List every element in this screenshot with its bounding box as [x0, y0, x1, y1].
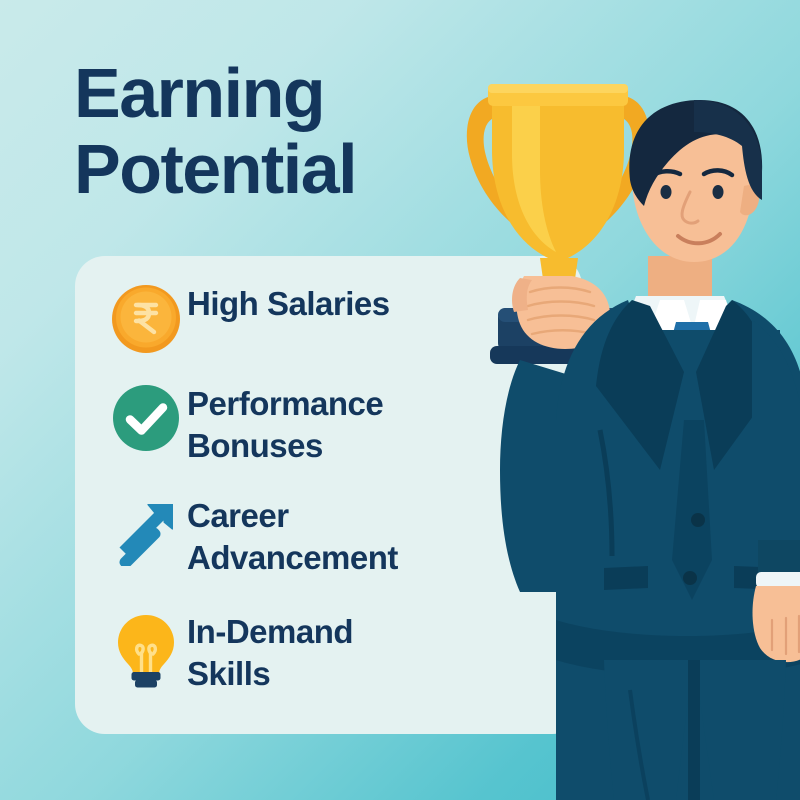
list-item[interactable]: Career Advancement: [105, 492, 565, 579]
list-item[interactable]: High Salaries: [105, 280, 565, 356]
check-circle-icon: [105, 380, 187, 454]
list-item-label: Career Advancement: [187, 492, 398, 579]
infographic-canvas: Earning Potential: [0, 0, 800, 800]
rupee-coin-icon: [105, 280, 187, 356]
list-item-label: High Salaries: [187, 280, 390, 325]
list-item-label: Performance Bonuses: [187, 380, 383, 467]
lightbulb-icon: [105, 608, 187, 690]
arrow-up-right-icon: [105, 492, 187, 566]
page-title: Earning Potential: [74, 56, 494, 207]
benefits-card: High Salaries Performance Bonuses: [75, 256, 582, 734]
list-item-label: In-Demand Skills: [187, 608, 353, 695]
benefits-list: High Salaries Performance Bonuses: [75, 256, 582, 734]
list-item[interactable]: In-Demand Skills: [105, 608, 565, 695]
list-item[interactable]: Performance Bonuses: [105, 380, 565, 467]
